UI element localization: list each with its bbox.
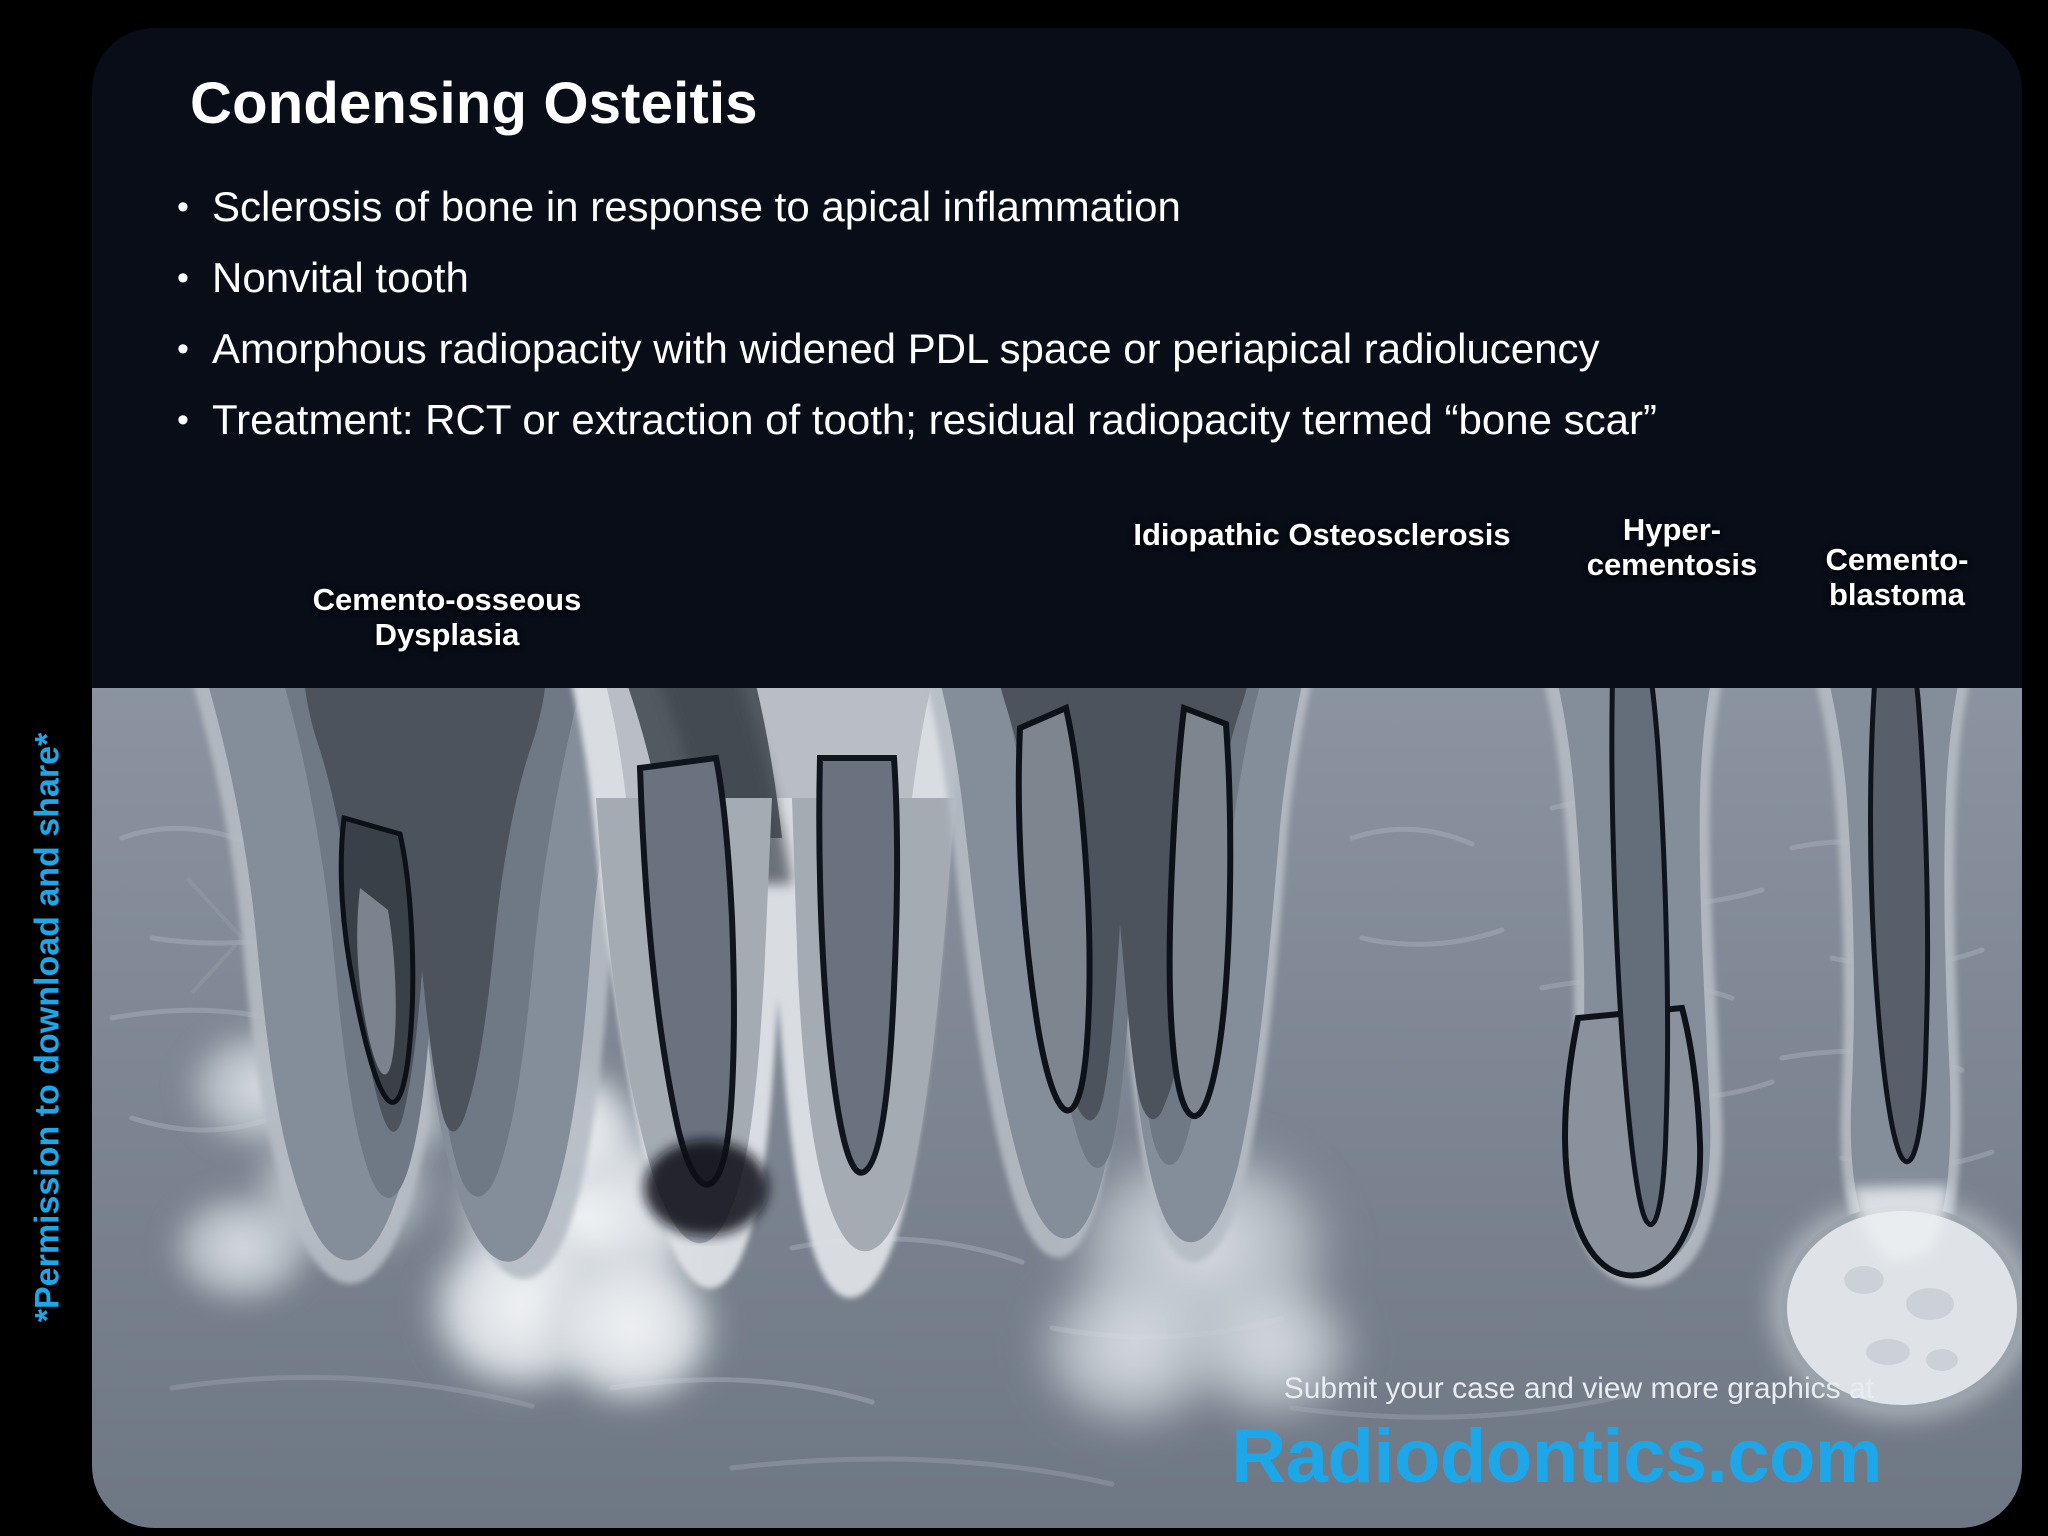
bullet-marker-icon: • bbox=[154, 318, 212, 380]
bullet-text: Nonvital tooth bbox=[212, 247, 469, 309]
slide-panel: Condensing Osteitis • Sclerosis of bone … bbox=[92, 28, 2022, 1528]
label-cemento-osseous-dysplasia: Cemento-osseous Dysplasia bbox=[282, 583, 612, 652]
bullet-text: Treatment: RCT or extraction of tooth; r… bbox=[212, 389, 1657, 451]
bullet-marker-icon: • bbox=[154, 247, 212, 309]
label-cementoblastoma: Cemento- blastoma bbox=[1782, 543, 2012, 612]
label-line-1: Cemento- bbox=[1782, 543, 2012, 578]
bullet-marker-icon: • bbox=[154, 389, 212, 451]
label-line-1: Hyper- bbox=[1562, 513, 1782, 548]
list-item: • Nonvital tooth bbox=[154, 247, 1944, 309]
label-line-2: blastoma bbox=[1782, 578, 2012, 613]
bullet-list: • Sclerosis of bone in response to apica… bbox=[154, 176, 1944, 460]
slide-root: Condensing Osteitis • Sclerosis of bone … bbox=[0, 0, 2048, 1536]
label-hypercementosis: Hyper- cementosis bbox=[1562, 513, 1782, 582]
list-item: • Amorphous radiopacity with widened PDL… bbox=[154, 318, 1944, 380]
label-idiopathic-osteosclerosis: Idiopathic Osteosclerosis bbox=[1112, 518, 1532, 553]
label-line-2: cementosis bbox=[1562, 548, 1782, 583]
page-title: Condensing Osteitis bbox=[190, 70, 758, 137]
permission-notice: *Permission to download and share* bbox=[29, 628, 68, 1428]
list-item: • Treatment: RCT or extraction of tooth;… bbox=[154, 389, 1944, 451]
label-line-1: Cemento-osseous bbox=[282, 583, 612, 618]
label-line-2: Dysplasia bbox=[282, 618, 612, 653]
bullet-text: Amorphous radiopacity with widened PDL s… bbox=[212, 318, 1600, 380]
footer-submit-text: Submit your case and view more graphics … bbox=[1284, 1372, 1874, 1406]
label-line-1: Idiopathic Osteosclerosis bbox=[1112, 518, 1532, 553]
list-item: • Sclerosis of bone in response to apica… bbox=[154, 176, 1944, 238]
footer-brand-link[interactable]: Radiodontics.com bbox=[1231, 1413, 1882, 1500]
periapical-radiolucency bbox=[644, 1140, 768, 1236]
bullet-marker-icon: • bbox=[154, 176, 212, 238]
bullet-text: Sclerosis of bone in response to apical … bbox=[212, 176, 1181, 238]
